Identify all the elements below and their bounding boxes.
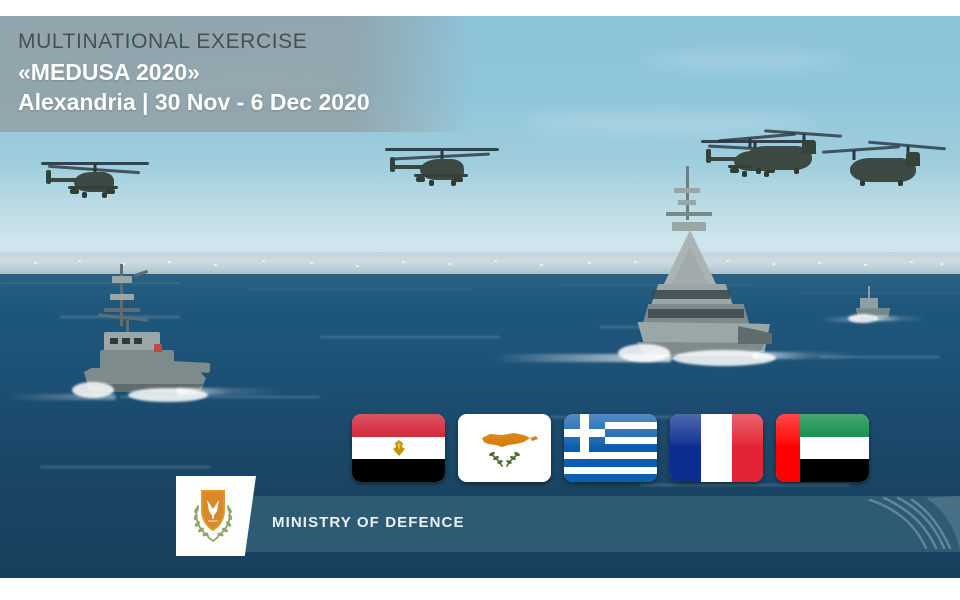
exercise-type-label: MULTINATIONAL EXERCISE xyxy=(18,30,468,55)
poster-image: MULTINATIONAL EXERCISE «MEDUSA 2020» Ale… xyxy=(0,0,960,600)
participant-flags xyxy=(352,414,869,482)
exercise-dates-label: Alexandria | 30 Nov - 6 Dec 2020 xyxy=(18,88,468,116)
frigate-center xyxy=(612,166,842,376)
letterbox-top xyxy=(0,0,960,16)
eagle-of-saladin-icon xyxy=(388,437,410,459)
title-block: MULTINATIONAL EXERCISE «MEDUSA 2020» Ale… xyxy=(18,30,468,116)
ministry-watermark-icon xyxy=(840,496,960,552)
coat-of-arms-icon xyxy=(184,484,242,548)
cyprus-coat-of-arms xyxy=(176,476,256,556)
flag-france xyxy=(670,414,763,482)
attack-helicopter-center xyxy=(384,144,500,200)
letterbox-bottom xyxy=(0,578,960,600)
cloud-wisp xyxy=(640,52,850,70)
vessel-distant-right xyxy=(846,286,920,332)
exercise-name-label: «MEDUSA 2020» xyxy=(18,58,468,86)
flag-united-arab-emirates xyxy=(776,414,869,482)
flag-egypt xyxy=(352,414,445,482)
ministry-bar: MINISTRY OF DEFENCE xyxy=(232,496,960,552)
ministry-label: MINISTRY OF DEFENCE xyxy=(272,514,465,531)
patrol-boat-left xyxy=(76,264,256,414)
cyprus-island-icon xyxy=(458,414,551,482)
flag-cyprus xyxy=(458,414,551,482)
flag-greece xyxy=(564,414,657,482)
transport-helicopter-right xyxy=(820,140,946,198)
attack-helicopter-left xyxy=(40,158,150,210)
